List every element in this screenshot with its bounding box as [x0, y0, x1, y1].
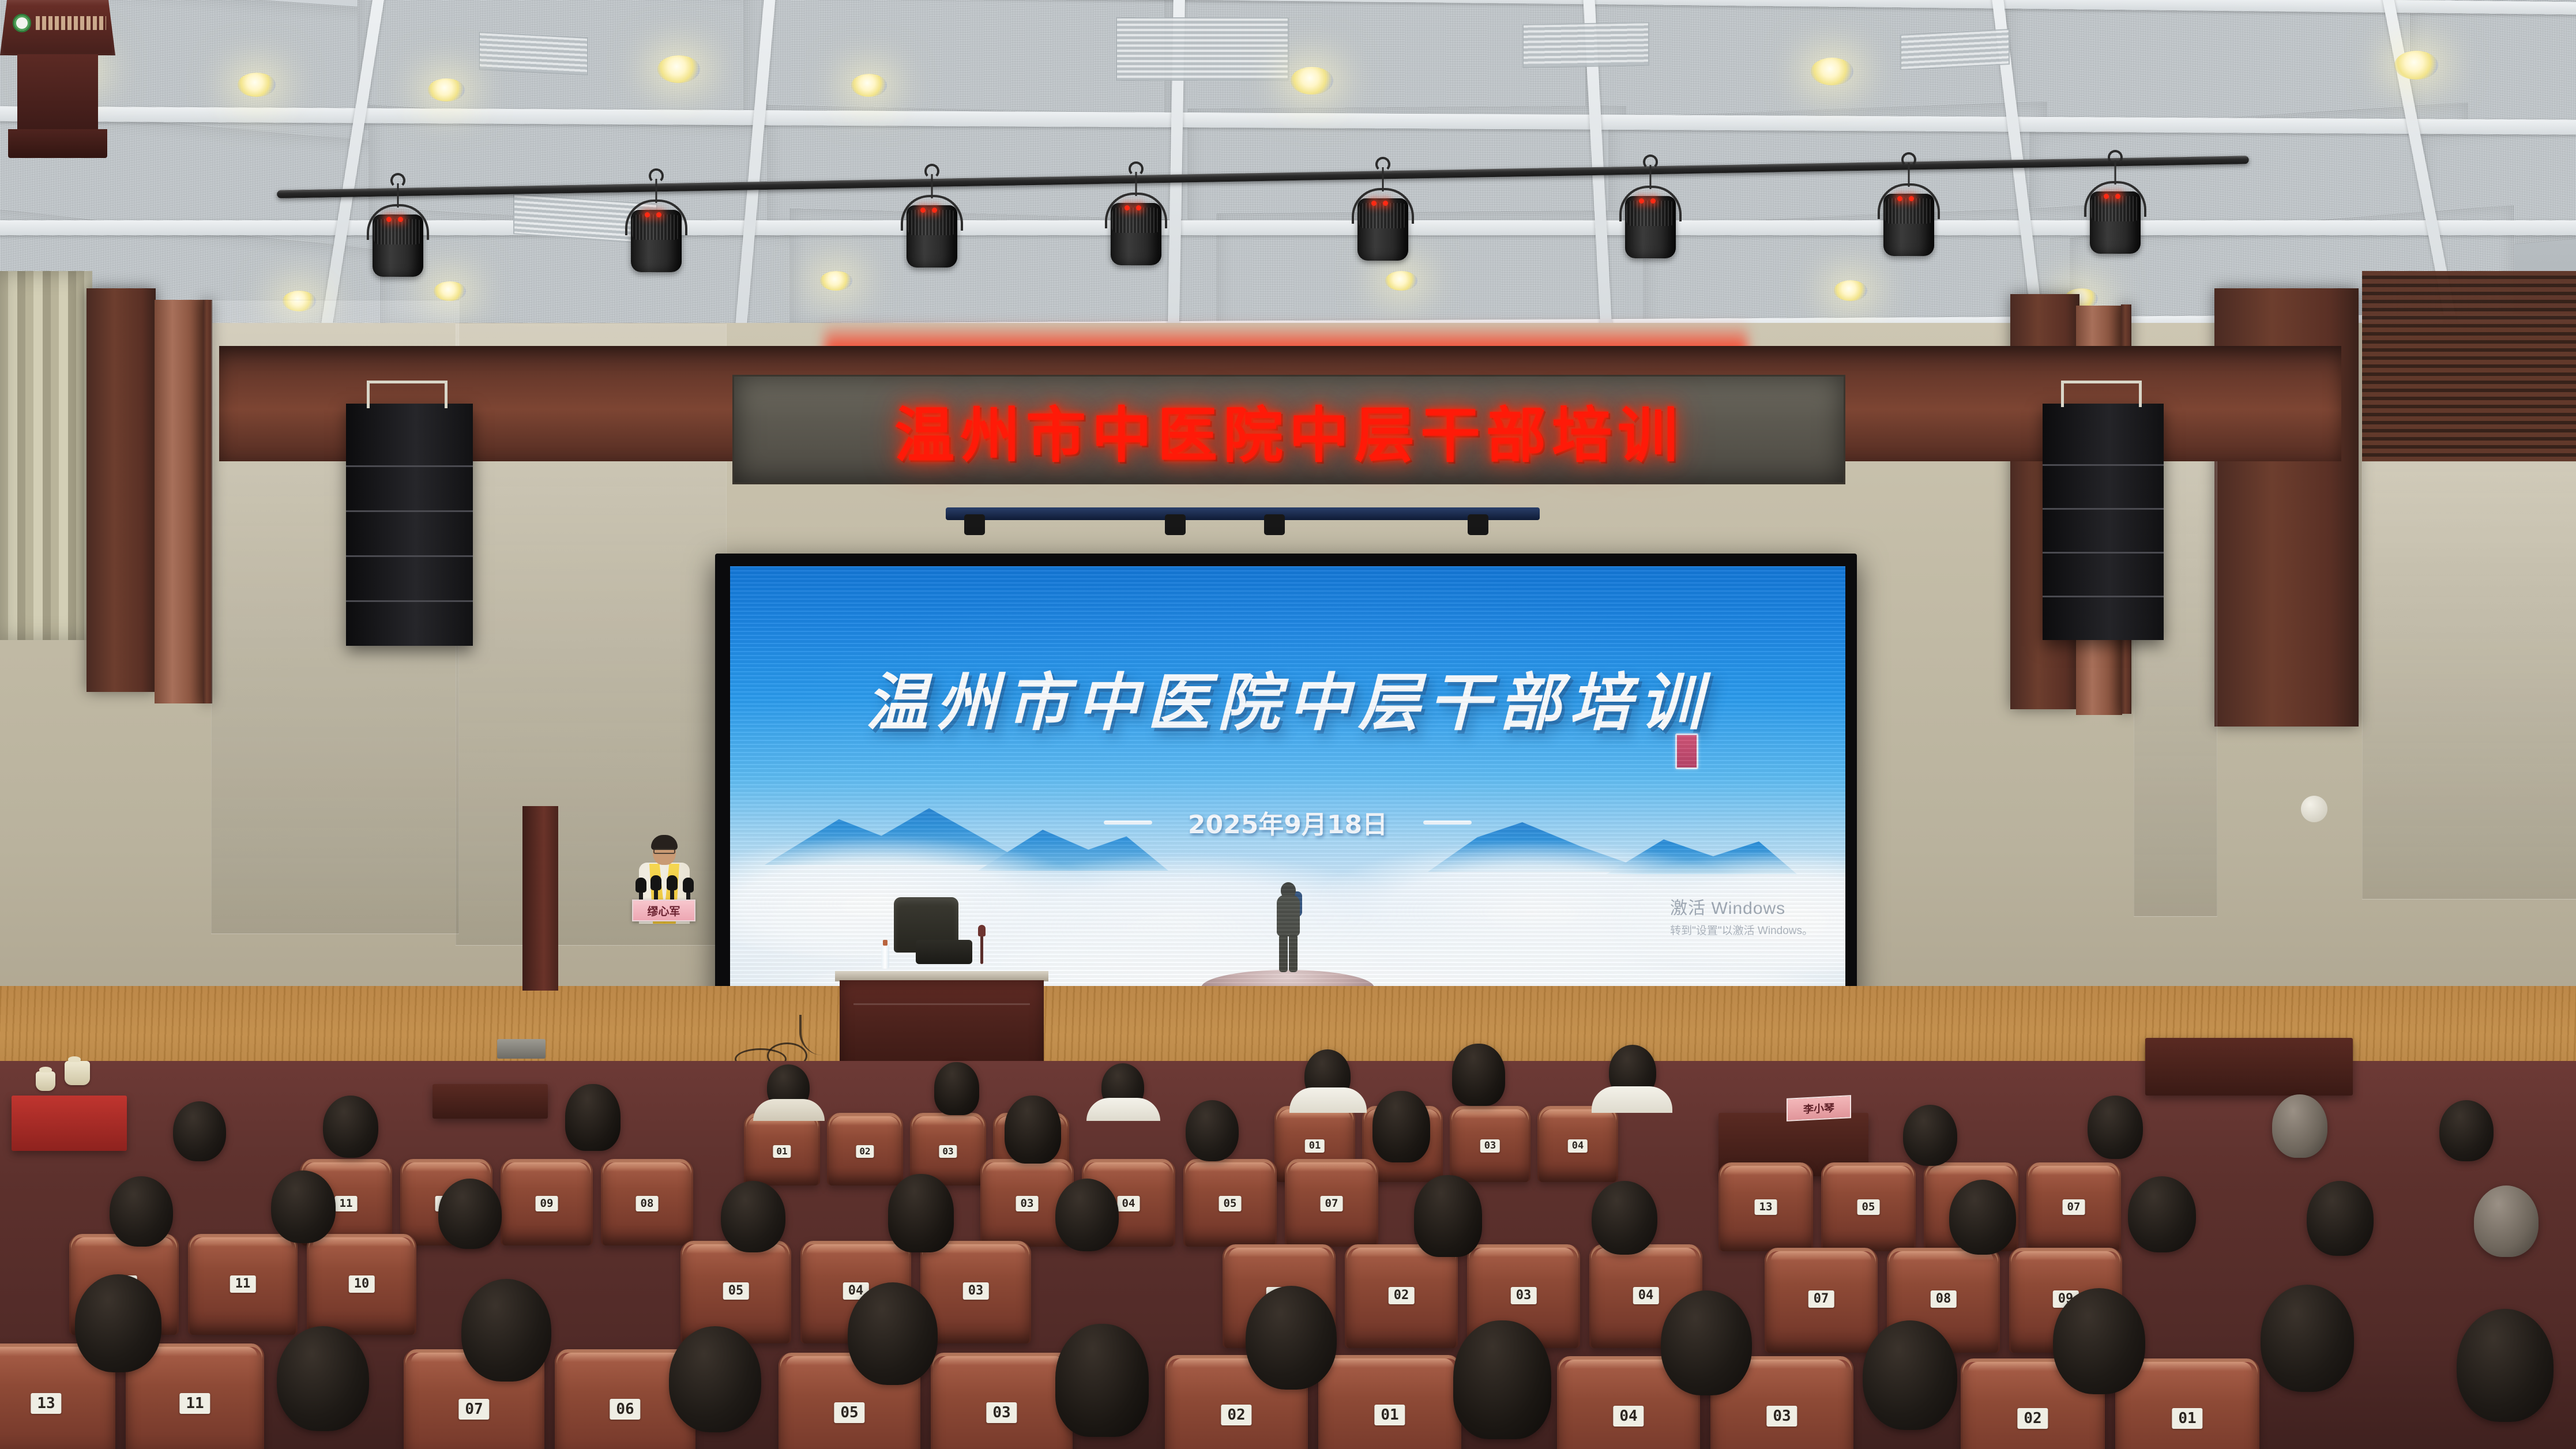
spotlight-led-icon — [1383, 201, 1388, 206]
spotlight-led-icon — [920, 208, 926, 213]
downlight — [238, 73, 276, 97]
seat-number: 11 — [230, 1275, 256, 1293]
seat-number: 02 — [1389, 1287, 1415, 1304]
audience-person — [461, 1279, 551, 1382]
auditorium-seat[interactable]: 05 — [1821, 1162, 1916, 1251]
audience-person — [934, 1062, 979, 1115]
stage-valance-bar — [946, 507, 1540, 520]
spotlight-led-icon — [1909, 196, 1914, 201]
audience-shoulders — [753, 1099, 825, 1121]
audience-person — [2457, 1309, 2554, 1422]
seat-row: 03 04 05 07 — [980, 1159, 1378, 1247]
seat-number: 07 — [1321, 1196, 1343, 1211]
seat-number: 04 — [1118, 1196, 1140, 1211]
stage-spotlight — [363, 183, 433, 281]
auditorium-seat[interactable]: 03 — [931, 1353, 1073, 1449]
audience-person — [1452, 1044, 1505, 1106]
audience-person — [1005, 1096, 1061, 1164]
seat-number: 02 — [2017, 1408, 2048, 1429]
spotlight-fins — [632, 214, 680, 240]
seat-number: 06 — [610, 1399, 640, 1420]
auditorium-seat[interactable]: 07 — [2026, 1162, 2121, 1251]
seat-number: 05 — [723, 1282, 749, 1300]
seat-number: 03 — [1480, 1139, 1500, 1153]
spotlight-led-icon — [398, 217, 403, 222]
audience-person — [173, 1101, 226, 1161]
hiker-silhouette — [1270, 882, 1306, 974]
stage-spotlight — [1348, 167, 1417, 265]
auditorium-seat[interactable]: 13 — [1718, 1162, 1813, 1251]
stage-spotlight — [1616, 165, 1685, 263]
watermark-line-2: 转到"设置"以激活 Windows。 — [1670, 922, 1813, 938]
auditorium-seat[interactable]: 02 — [827, 1113, 903, 1185]
audience-person — [2088, 1096, 2143, 1159]
spotlight-led-icon — [656, 212, 661, 217]
seat-number: 07 — [458, 1399, 489, 1420]
stage-side-door — [522, 806, 558, 991]
seat-number: 02 — [856, 1145, 874, 1158]
spotlight-led-icon — [1639, 198, 1644, 204]
acoustic-slat-panel — [2362, 271, 2576, 461]
speaker-rigging-strap — [2061, 381, 2142, 407]
audience-person — [1903, 1105, 1957, 1166]
slide-date-row: 2025年9月18日 — [730, 804, 1845, 841]
spotlight-fins — [2091, 196, 2139, 221]
seat-number: 01 — [773, 1145, 791, 1158]
wall-column — [87, 288, 156, 692]
stage-spotlight — [622, 179, 691, 277]
audience-person — [1949, 1180, 2016, 1255]
podium-top — [0, 0, 115, 55]
downlight — [851, 74, 887, 97]
spotlight-fins — [374, 219, 422, 244]
auditorium-scene: 温州市中医院中层干部培训 — [0, 0, 2576, 1449]
downlight — [1385, 271, 1417, 291]
watermark-line-1: 激活 Windows — [1670, 894, 1813, 919]
audience-person — [323, 1096, 378, 1158]
seat-number: 03 — [963, 1282, 989, 1300]
hiker-torso — [1277, 895, 1300, 936]
podium-base — [8, 129, 107, 158]
downlight — [428, 78, 465, 101]
audience-person — [2272, 1094, 2327, 1158]
side-desk — [433, 1084, 548, 1119]
auditorium-seat[interactable]: 02 — [1345, 1244, 1458, 1348]
wall-panel — [2362, 461, 2576, 899]
spotlight-led-icon — [2115, 194, 2120, 199]
auditorium-seat[interactable]: 01 — [1318, 1355, 1461, 1449]
audience-person — [721, 1181, 785, 1252]
air-vent — [1522, 22, 1649, 68]
seat-number: 13 — [1755, 1199, 1777, 1215]
seat-number: 01 — [2172, 1408, 2202, 1429]
air-vent — [1900, 29, 2010, 70]
seat-number: 01 — [1374, 1405, 1405, 1425]
audience-person — [110, 1176, 173, 1247]
led-marquee-banner: 温州市中医院中层干部培训 — [732, 375, 1845, 484]
auditorium-seat[interactable]: 08 — [601, 1159, 693, 1245]
auditorium-seat[interactable]: 03 — [1450, 1106, 1530, 1182]
pa-speaker-stack-right — [2043, 404, 2164, 640]
downlight — [434, 281, 466, 301]
led-banner-text: 温州市中医院中层干部培训 — [894, 386, 1683, 473]
audience-person — [1055, 1324, 1149, 1437]
stage-spotlight — [897, 174, 967, 272]
valance-downlight — [1165, 514, 1186, 535]
spotlight-fins — [1359, 203, 1407, 228]
seat-number: 03 — [939, 1145, 957, 1158]
audience-person — [271, 1171, 336, 1243]
audience-person — [1453, 1320, 1551, 1439]
slide-title: 温州市中医院中层干部培训 — [730, 653, 1845, 743]
audience-shoulders — [1592, 1086, 1672, 1113]
podium-column — [17, 54, 98, 130]
seat-number: 05 — [1857, 1199, 1880, 1215]
slide-date: 2025年9月18日 — [1188, 804, 1387, 841]
audience-person — [1055, 1179, 1119, 1251]
teacup — [65, 1061, 90, 1085]
seat-number: 08 — [636, 1196, 659, 1211]
spotlight-fins — [1885, 198, 1933, 224]
auditorium-seat[interactable]: 10 — [307, 1234, 416, 1335]
step-stool — [497, 1039, 546, 1059]
red-seal-stamp-icon — [1675, 733, 1698, 769]
audience-person — [2261, 1285, 2354, 1392]
audience-person — [1863, 1320, 1957, 1430]
podium-org-text — [36, 16, 106, 30]
audience-person — [1246, 1286, 1337, 1390]
podium-nameplate: 缪心军 — [632, 899, 695, 921]
audience-shoulders — [1289, 1087, 1367, 1113]
decorative-dash — [1423, 821, 1472, 825]
downlight — [1811, 58, 1853, 85]
spotlight-led-icon — [1650, 198, 1656, 204]
downlight — [1291, 67, 1333, 95]
stage-spotlight — [2081, 160, 2150, 258]
stage-spotlight — [1874, 163, 1943, 261]
wall-sphere-speaker — [2301, 796, 2327, 822]
audience-person — [888, 1174, 954, 1252]
seat-number: 03 — [1511, 1287, 1537, 1304]
audience-person — [1372, 1091, 1430, 1162]
seat-number: 03 — [1016, 1196, 1039, 1211]
speaker-rigging-strap — [367, 381, 447, 408]
seat-number: 07 — [2063, 1199, 2085, 1215]
seat-number: 11 — [179, 1393, 210, 1414]
seat-number: 04 — [1613, 1406, 1644, 1427]
window-curtain — [0, 271, 92, 640]
spotlight-fins — [908, 210, 956, 235]
windows-activation-watermark: 激活 Windows 转到"设置"以激活 Windows。 — [1670, 894, 1813, 938]
downlight — [657, 55, 700, 83]
spotlight-led-icon — [645, 212, 650, 217]
spotlight-led-icon — [1136, 205, 1141, 210]
seat-number: 10 — [349, 1275, 375, 1293]
auditorium-seat[interactable]: 04 — [1537, 1106, 1618, 1182]
audience-person — [1186, 1100, 1239, 1161]
valance-downlight — [1264, 514, 1285, 535]
teacup — [36, 1071, 55, 1091]
audience-person — [2128, 1176, 2196, 1252]
spotlight-led-icon — [386, 217, 392, 222]
spotlight-fins — [1626, 201, 1675, 226]
auditorium-seat[interactable]: 05 — [1183, 1159, 1277, 1247]
pa-speaker-stack-left — [346, 404, 473, 646]
air-vent — [479, 32, 588, 76]
audience-person — [1661, 1290, 1752, 1395]
hiker-leg — [1289, 934, 1298, 972]
valance-downlight — [1468, 514, 1488, 535]
downlight — [1834, 280, 1867, 301]
audience-person — [2439, 1100, 2494, 1161]
audience-shoulders — [1086, 1098, 1160, 1121]
spotlight-led-icon — [932, 208, 937, 213]
seat-number: 05 — [834, 1402, 864, 1423]
seat-row: 13 05 06 07 — [1718, 1162, 2121, 1251]
audience-person — [565, 1084, 621, 1151]
valance-downlight — [964, 514, 985, 535]
presenter-glasses-icon — [653, 849, 675, 854]
auditorium-seat[interactable]: 07 — [1765, 1248, 1878, 1353]
auditorium-seat[interactable]: 11 — [188, 1234, 298, 1335]
spotlight-led-icon — [2104, 194, 2109, 199]
spotlight-fins — [1112, 208, 1160, 233]
seat-number: 01 — [1305, 1139, 1325, 1153]
audience-person — [848, 1282, 938, 1385]
audience-person — [438, 1179, 502, 1249]
audience-person — [2053, 1288, 2145, 1394]
stage-spotlight — [1101, 172, 1171, 270]
seat-number: 03 — [1766, 1406, 1797, 1427]
seat-number: 05 — [1219, 1196, 1242, 1211]
audience-person — [2474, 1185, 2539, 1257]
air-vent — [1116, 17, 1289, 81]
spotlight-led-icon — [1897, 196, 1902, 201]
auditorium-seat[interactable]: 01 — [744, 1113, 820, 1185]
auditorium-seat[interactable]: 05 — [680, 1241, 791, 1343]
seat-number: 07 — [1808, 1290, 1834, 1308]
hospital-emblem-icon — [13, 14, 31, 32]
seat-number: 02 — [1221, 1405, 1251, 1425]
seat-number: 08 — [1931, 1290, 1957, 1308]
desk-name-placard: 李小琴 — [1787, 1095, 1851, 1121]
spotlight-led-icon — [1125, 205, 1130, 210]
side-desk — [2145, 1038, 2353, 1096]
audience-person — [75, 1274, 161, 1372]
audience-person — [1592, 1181, 1657, 1255]
decorative-dash — [1104, 821, 1152, 825]
seat-number: 03 — [986, 1402, 1017, 1423]
spotlight-led-icon — [1371, 201, 1377, 206]
auditorium-seat[interactable]: 09 — [501, 1159, 593, 1245]
audience-person — [277, 1326, 369, 1431]
hiker-leg — [1279, 934, 1288, 972]
auditorium-seat[interactable]: 07 — [1285, 1159, 1378, 1247]
seat-row: 07 06 — [404, 1349, 695, 1449]
audience-person — [669, 1326, 761, 1432]
wood-wall-strip — [155, 300, 205, 703]
seat-number: 11 — [335, 1196, 358, 1211]
presenter-hair — [651, 835, 678, 850]
audience-person — [1414, 1175, 1482, 1257]
downlight — [2394, 51, 2438, 80]
downlight — [820, 271, 852, 291]
seat-number: 13 — [31, 1393, 61, 1414]
seat-number: 04 — [1568, 1139, 1588, 1153]
seat-number: 04 — [1633, 1287, 1659, 1304]
seat-number: 09 — [536, 1196, 558, 1211]
tea-service-table — [12, 1096, 127, 1151]
audience-person — [2307, 1181, 2374, 1256]
